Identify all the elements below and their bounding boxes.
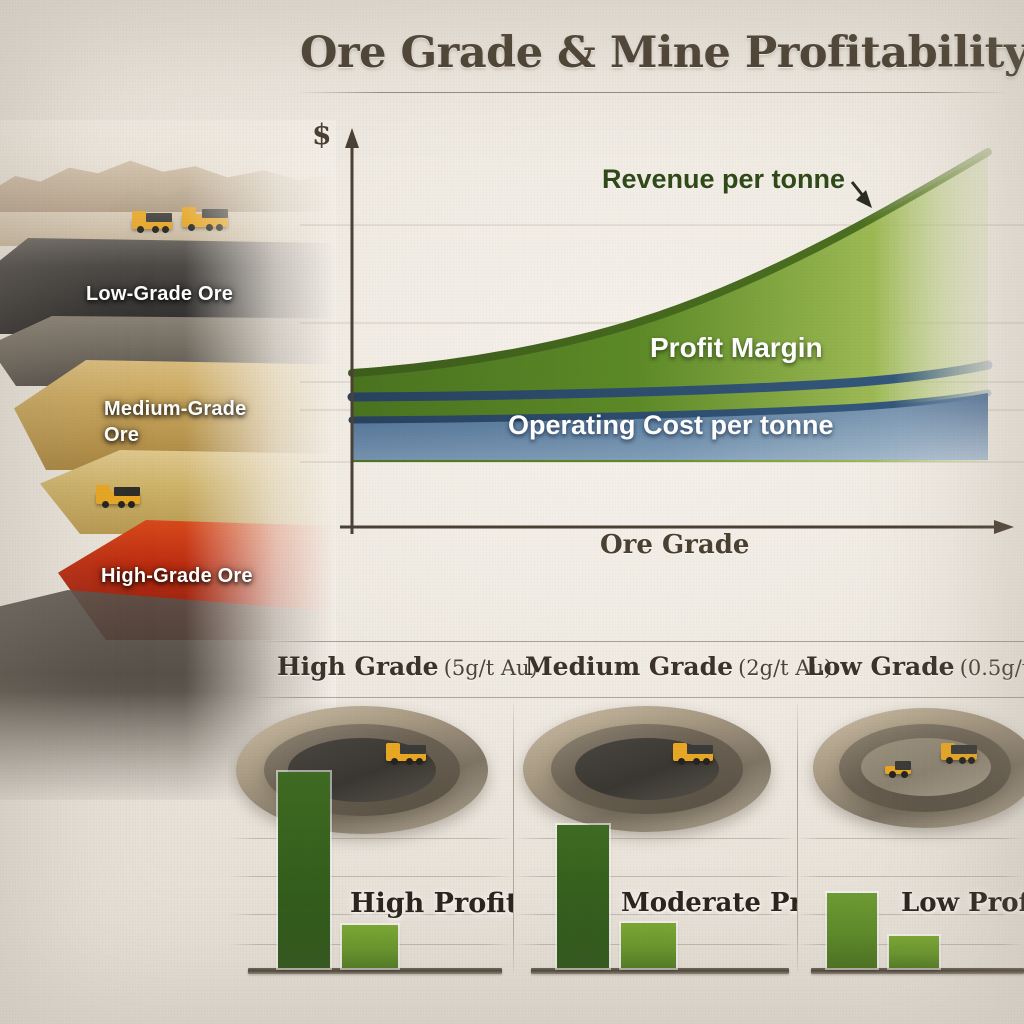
truck-bed bbox=[687, 745, 713, 754]
truck-cab bbox=[673, 743, 687, 753]
main-area-chart: $ Revenue per tonne Profit Margin Operat… bbox=[300, 110, 1024, 550]
truck-cab bbox=[386, 743, 400, 753]
bar-cost-medium bbox=[621, 923, 676, 968]
panel-baseline bbox=[531, 968, 789, 974]
grade-panel-low: Low Profit bbox=[797, 700, 1024, 1024]
x-axis-arrowhead bbox=[994, 520, 1014, 534]
truck-wheel bbox=[946, 757, 953, 764]
ore-label-low-grade: Low-Grade Ore bbox=[86, 283, 233, 306]
profit-label-medium: Moderate Profit bbox=[621, 888, 797, 918]
truck-wheel bbox=[678, 758, 685, 765]
profit-label-low: Low Profit bbox=[901, 888, 1024, 918]
haul-truck-mini bbox=[386, 750, 426, 761]
truck-wheel bbox=[703, 758, 710, 765]
revenue-annotation-label: Revenue per tonne bbox=[602, 164, 845, 195]
photo-edge-fade bbox=[0, 120, 336, 800]
truck-wheel bbox=[391, 758, 398, 765]
truck-wheel bbox=[416, 758, 423, 765]
profit-margin-annotation-label: Profit Margin bbox=[650, 332, 823, 364]
truck-wheel bbox=[968, 757, 975, 764]
panel-baseline bbox=[248, 968, 502, 974]
grade-section-bottom-rule bbox=[248, 697, 1024, 698]
grade-heading-high: High Grade (5g/t Au) bbox=[277, 652, 538, 681]
grade-heading-low: Low Grade (0.5g/t Au bbox=[806, 652, 1024, 681]
grade-name-low: Low Grade bbox=[806, 652, 955, 681]
grade-value-high: (5g/t Au) bbox=[444, 656, 538, 680]
bar-cost-low bbox=[889, 936, 939, 968]
haul-truck-mini bbox=[941, 750, 977, 760]
infographic-canvas: Low-Grade Ore Medium-Grade Ore High-Grad… bbox=[0, 0, 1024, 1024]
truck-bed bbox=[895, 761, 911, 770]
grade-name-medium: Medium Grade bbox=[525, 652, 733, 681]
ore-label-high-grade: High-Grade Ore bbox=[101, 565, 253, 588]
grade-panel-high: High Profit bbox=[228, 700, 513, 1024]
grade-name-high: High Grade bbox=[277, 652, 439, 681]
grade-value-low: (0.5g/t Au bbox=[960, 656, 1024, 680]
page-title: Ore Grade & Mine Profitability bbox=[300, 28, 1000, 78]
title-underline-rule bbox=[296, 92, 1008, 93]
bar-revenue-medium bbox=[557, 825, 609, 968]
bar-cost-high bbox=[342, 925, 398, 968]
grade-section-top-rule bbox=[258, 641, 1024, 642]
ore-label-medium-grade: Medium-Grade Ore bbox=[104, 396, 279, 448]
bar-revenue-high bbox=[278, 772, 330, 968]
grade-panel-medium: Moderate Profit bbox=[513, 700, 797, 1024]
bar-group-low bbox=[827, 772, 1024, 968]
haul-truck-mini bbox=[673, 750, 713, 761]
x-axis-label: Ore Grade bbox=[600, 530, 749, 560]
truck-bed bbox=[951, 745, 977, 754]
profit-label-high: High Profit bbox=[350, 888, 513, 919]
bar-revenue-low bbox=[827, 893, 877, 968]
grade-heading-medium: Medium Grade (2g/t Au) bbox=[525, 652, 832, 681]
operating-cost-annotation-label: Operating Cost per tonne bbox=[508, 410, 834, 441]
truck-wheel bbox=[406, 758, 413, 765]
truck-wheel bbox=[693, 758, 700, 765]
truck-wheel bbox=[959, 757, 966, 764]
revenue-pointer-arrowhead bbox=[856, 190, 872, 208]
bar-group-high bbox=[278, 772, 478, 968]
truck-bed bbox=[400, 745, 426, 754]
bar-group-medium bbox=[557, 772, 757, 968]
y-axis-dollar-label: $ bbox=[312, 118, 331, 151]
open-pit-cross-section-illustration bbox=[0, 120, 336, 800]
panel-baseline bbox=[811, 968, 1024, 974]
y-axis-arrowhead bbox=[345, 128, 359, 148]
